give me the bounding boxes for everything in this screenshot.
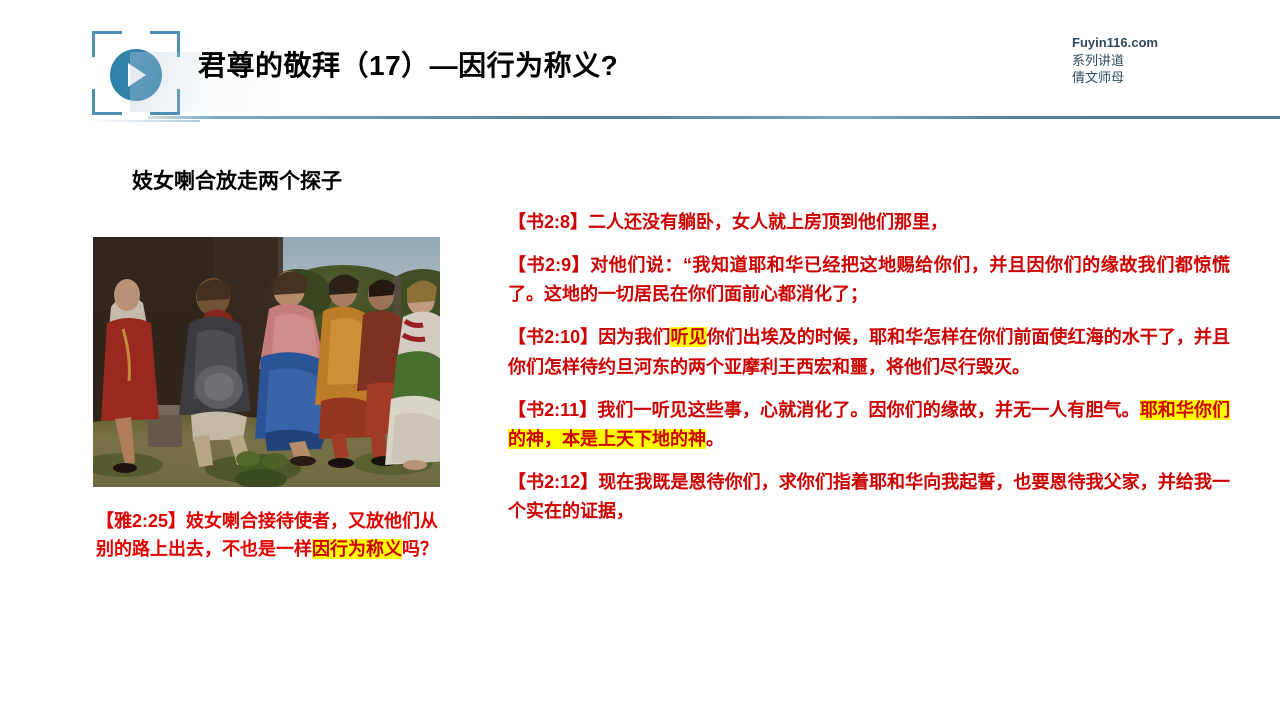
verse-text: 现在我既是恩待你们，求你们指着耶和华向我起誓，也要恩待我父家，并给我一个实在的证… [508, 472, 1230, 521]
verse-text: 我们一听见这些事，心就消化了。因你们的缘故，并无一人有胆气。 [597, 400, 1139, 420]
frame-corner-top-left [92, 31, 122, 57]
caption-reference: 【雅2:25】 [96, 511, 186, 531]
brand-site: Fuyin116.com [1072, 34, 1262, 52]
verse-reference: 【书2:11】 [508, 400, 597, 420]
slide-root: 君尊的敬拜（17）—因行为称义? Fuyin116.com 系列讲道 倩文师母 … [0, 0, 1280, 720]
verse-item: 【书2:10】因为我们听见你们出埃及的时候，耶和华怎样在你们前面使红海的水干了，… [508, 323, 1230, 381]
verse-text: 对他们说：“我知道耶和华已经把这地赐给你们，并且因你们的缘故我们都惊慌了。这地的… [508, 255, 1230, 304]
header-divider-line-soft [90, 120, 200, 122]
brand-speaker: 倩文师母 [1072, 69, 1262, 87]
verse-item: 【书2:9】对他们说：“我知道耶和华已经把这地赐给你们，并且因你们的缘故我们都惊… [508, 251, 1230, 309]
verse-reference: 【书2:12】 [508, 472, 598, 492]
page-title: 君尊的敬拜（17）—因行为称义? [198, 44, 618, 84]
header-divider-line [148, 116, 1280, 119]
painting-image [93, 237, 440, 487]
verse-item: 【书2:11】我们一听见这些事，心就消化了。因你们的缘故，并无一人有胆气。耶和华… [508, 396, 1230, 454]
verse-highlight: 听见 [670, 327, 706, 347]
verse-text: 因为我们 [598, 327, 670, 347]
slide-header: 君尊的敬拜（17）—因行为称义? Fuyin116.com 系列讲道 倩文师母 [0, 0, 1280, 130]
verse-reference: 【书2:10】 [508, 327, 598, 347]
verse-reference: 【书2:8】 [508, 212, 588, 232]
play-button-icon[interactable] [110, 49, 162, 101]
frame-corner-top-right [150, 31, 180, 57]
left-column: 妓女喇合放走两个探子 [90, 165, 450, 209]
section-heading: 妓女喇合放走两个探子 [132, 165, 450, 195]
caption-text-part2: 吗？ [402, 539, 438, 559]
verse-item: 【书2:12】现在我既是恩待你们，求你们指着耶和华向我起誓，也要恩待我父家，并给… [508, 468, 1230, 526]
verse-reference: 【书2:9】 [508, 255, 590, 275]
verse-list: 【书2:8】二人还没有躺卧，女人就上房顶到他们那里， 【书2:9】对他们说：“我… [508, 208, 1230, 526]
brand-block: Fuyin116.com 系列讲道 倩文师母 [1072, 34, 1262, 87]
caption-highlight: 因行为称义 [312, 539, 402, 559]
brand-series: 系列讲道 [1072, 52, 1262, 70]
painting-caption: 【雅2:25】妓女喇合接待使者，又放他们从别的路上出去，不也是一样因行为称义吗？ [96, 508, 448, 564]
verse-text: 二人还没有躺卧，女人就上房顶到他们那里， [588, 212, 948, 232]
verse-text: 。 [706, 429, 724, 449]
verse-item: 【书2:8】二人还没有躺卧，女人就上房顶到他们那里， [508, 208, 1230, 237]
